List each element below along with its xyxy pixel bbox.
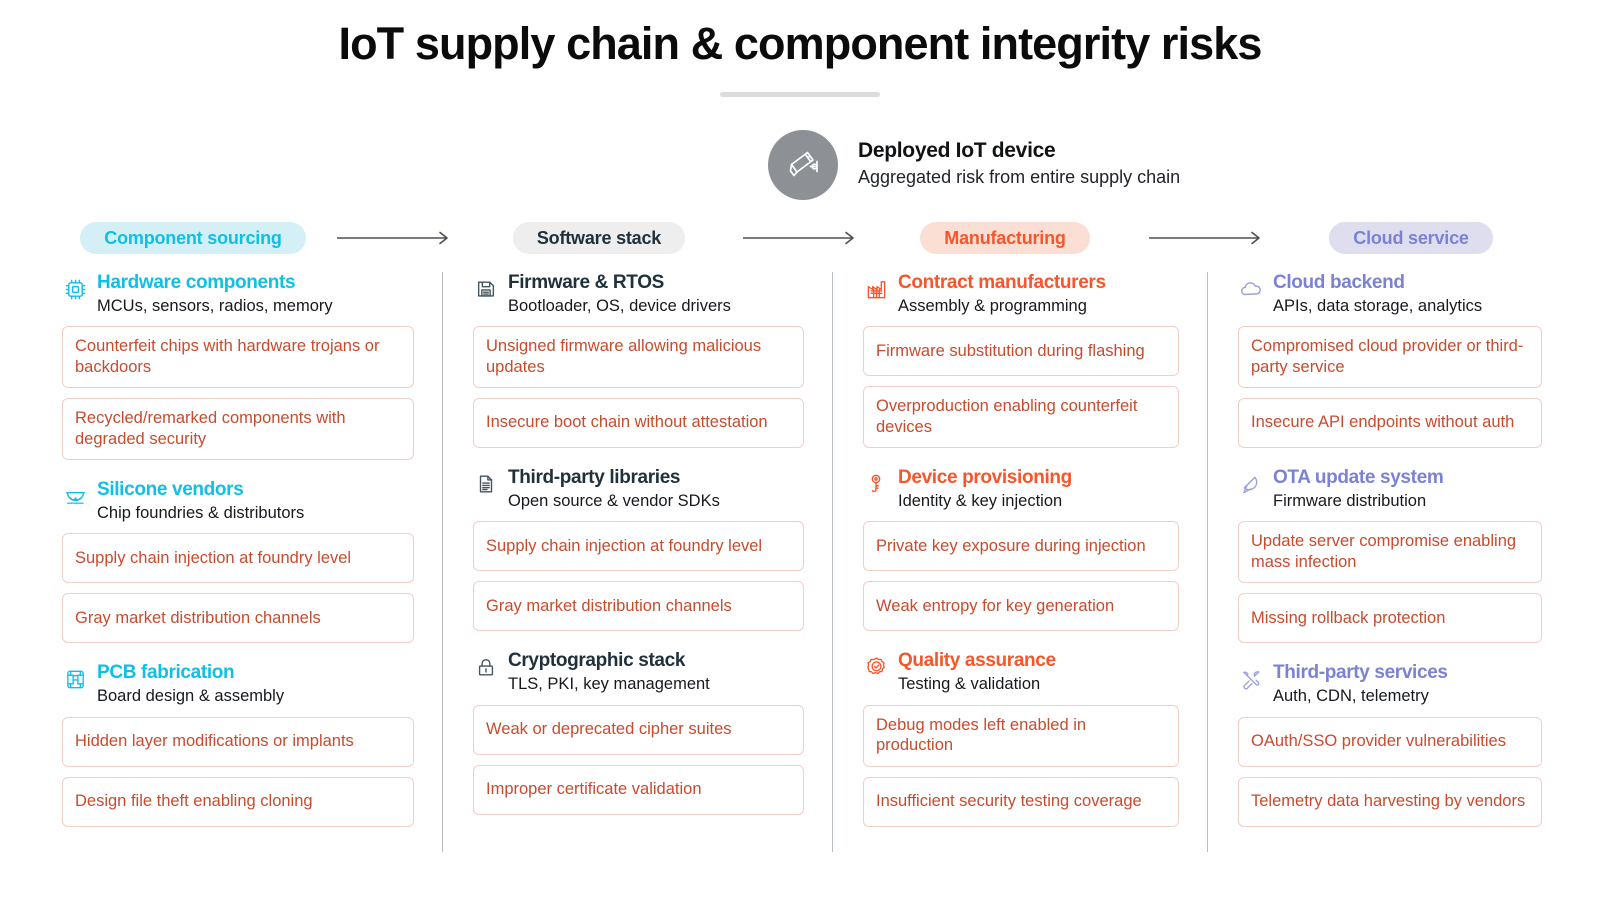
risk-text: Missing rollback protection [1251,608,1445,628]
group-device-provisioning: Device provisioning Identity & key injec… [863,467,1179,631]
group-quality-assurance: Quality assurance Testing & validation D… [863,650,1179,826]
risk-text: Gray market distribution channels [75,608,321,628]
risk-card: Recycled/remarked components with degrad… [62,398,414,460]
column-cloud-service: Cloud backend APIs, data storage, analyt… [1207,272,1542,852]
risk-card: Debug modes left enabled in production [863,705,1179,767]
group-header: Third-party libraries Open source & vend… [473,467,804,512]
group-header: Cryptographic stack TLS, PKI, key manage… [473,650,804,695]
stage-cell-1: Component sourcing [62,222,324,254]
group-pcb-fabrication: PCB fabrication Board design & assembly … [62,662,414,826]
group-header: Silicone vendors Chip foundries & distri… [62,479,414,524]
risk-card: Private key exposure during injection [863,521,1179,571]
stage-label: Software stack [537,228,661,249]
risk-text: Insufficient security testing coverage [876,791,1142,811]
risk-card: Update server compromise enabling mass i… [1238,521,1542,583]
risk-card: Weak or deprecated cipher suites [473,705,804,755]
group-firmware-rtos: Firmware & RTOS Bootloader, OS, device d… [473,272,804,448]
group-subtitle: TLS, PKI, key management [508,674,710,695]
satellite-dish-icon [1238,469,1264,499]
group-header: OTA update system Firmware distribution [1238,467,1542,512]
group-third-party-services: Third-party services Auth, CDN, telemetr… [1238,662,1542,826]
tools-icon [1238,664,1264,694]
risk-text: Private key exposure during injection [876,536,1146,556]
deployed-device-banner: Deployed IoT device Aggregated risk from… [768,130,1180,200]
risk-text: Gray market distribution channels [486,596,732,616]
risk-card: Insecure API endpoints without auth [1238,398,1542,448]
stage-flow: Component sourcing Software stack Manufa… [62,222,1542,254]
column-software-stack: Firmware & RTOS Bootloader, OS, device d… [442,272,832,852]
risk-text: Firmware substitution during flashing [876,341,1145,361]
group-title: Third-party services [1273,662,1448,684]
risk-card: Design file theft enabling cloning [62,777,414,827]
security-camera-icon [783,143,823,188]
risk-text: Supply chain injection at foundry level [75,548,351,568]
risk-text: Insecure boot chain without attestation [486,412,768,432]
device-icon-circle [768,130,838,200]
pcb-icon [62,664,88,694]
group-title: Third-party libraries [508,467,720,489]
risk-text: Compromised cloud provider or third-part… [1251,336,1529,377]
factory-icon [863,274,889,304]
group-subtitle: Testing & validation [898,674,1056,695]
group-title: Cryptographic stack [508,650,710,672]
risk-text: Overproduction enabling counterfeit devi… [876,396,1166,437]
group-title: Cloud backend [1273,272,1482,294]
risk-text: Update server compromise enabling mass i… [1251,531,1529,572]
stage-chip-software-stack[interactable]: Software stack [513,222,685,254]
risk-card: Missing rollback protection [1238,593,1542,643]
risk-columns: Hardware components MCUs, sensors, radio… [62,272,1542,852]
risk-text: Hidden layer modifications or implants [75,731,354,751]
risk-card: Improper certificate validation [473,765,804,815]
cloud-icon [1238,274,1264,304]
group-header: PCB fabrication Board design & assembly [62,662,414,707]
device-subtitle: Aggregated risk from entire supply chain [858,165,1180,189]
group-title: Firmware & RTOS [508,272,731,294]
stage-label: Manufacturing [944,228,1065,249]
risk-card: Gray market distribution channels [62,593,414,643]
stage-cell-2: Software stack [468,222,730,254]
risk-card: Firmware substitution during flashing [863,326,1179,376]
group-subtitle: Board design & assembly [97,686,284,707]
group-hardware-components: Hardware components MCUs, sensors, radio… [62,272,414,460]
title-divider [720,92,880,97]
risk-card: Supply chain injection at foundry level [62,533,414,583]
group-title: Hardware components [97,272,333,294]
risk-text: Debug modes left enabled in production [876,715,1166,756]
risk-card: Telemetry data harvesting by vendors [1238,777,1542,827]
column-manufacturing: Contract manufacturers Assembly & progra… [832,272,1207,852]
risk-card: Insufficient security testing coverage [863,777,1179,827]
group-header: Cloud backend APIs, data storage, analyt… [1238,272,1542,317]
stage-label: Component sourcing [104,228,281,249]
stage-arrow-2 [730,228,874,248]
lock-icon [473,652,499,682]
group-subtitle: Auth, CDN, telemetry [1273,686,1448,707]
risk-text: OAuth/SSO provider vulnerabilities [1251,731,1506,751]
group-subtitle: Identity & key injection [898,491,1072,512]
device-title: Deployed IoT device [858,138,1180,164]
key-icon [863,469,889,499]
group-header: Hardware components MCUs, sensors, radio… [62,272,414,317]
risk-card: Counterfeit chips with hardware trojans … [62,326,414,388]
group-title: Silicone vendors [97,479,304,501]
group-silicone-vendors: Silicone vendors Chip foundries & distri… [62,479,414,643]
group-subtitle: APIs, data storage, analytics [1273,296,1482,317]
group-contract-manufacturers: Contract manufacturers Assembly & progra… [863,272,1179,448]
stage-arrow-3 [1136,228,1280,248]
stage-chip-component-sourcing[interactable]: Component sourcing [80,222,305,254]
group-cryptographic-stack: Cryptographic stack TLS, PKI, key manage… [473,650,804,814]
group-title: Device provisioning [898,467,1072,489]
group-subtitle: Open source & vendor SDKs [508,491,720,512]
risk-card: Weak entropy for key generation [863,581,1179,631]
diagram-page: IoT supply chain & component integrity r… [0,0,1600,900]
group-title: OTA update system [1273,467,1443,489]
chip-icon [62,274,88,304]
stage-chip-cloud-service[interactable]: Cloud service [1329,222,1492,254]
group-subtitle: Firmware distribution [1273,491,1443,512]
storefront-icon [62,481,88,511]
risk-text: Weak or deprecated cipher suites [486,719,732,739]
group-header: Third-party services Auth, CDN, telemetr… [1238,662,1542,707]
risk-text: Improper certificate validation [486,779,702,799]
column-component-sourcing: Hardware components MCUs, sensors, radio… [62,272,442,852]
risk-text: Counterfeit chips with hardware trojans … [75,336,401,377]
stage-chip-manufacturing[interactable]: Manufacturing [920,222,1089,254]
risk-card: Hidden layer modifications or implants [62,717,414,767]
stage-label: Cloud service [1353,228,1468,249]
risk-card: Supply chain injection at foundry level [473,521,804,571]
risk-text: Insecure API endpoints without auth [1251,412,1514,432]
risk-text: Recycled/remarked components with degrad… [75,408,401,449]
risk-text: Supply chain injection at foundry level [486,536,762,556]
group-cloud-backend: Cloud backend APIs, data storage, analyt… [1238,272,1542,448]
stage-cell-4: Cloud service [1280,222,1542,254]
risk-text: Weak entropy for key generation [876,596,1114,616]
verified-badge-icon [863,652,889,682]
group-ota-update-system: OTA update system Firmware distribution … [1238,467,1542,643]
stage-arrow-1 [324,228,468,248]
group-header: Quality assurance Testing & validation [863,650,1179,695]
risk-text: Unsigned firmware allowing malicious upd… [486,336,791,377]
title-block: IoT supply chain & component integrity r… [0,0,1600,97]
group-title: Contract manufacturers [898,272,1106,294]
risk-text: Design file theft enabling cloning [75,791,313,811]
group-header: Firmware & RTOS Bootloader, OS, device d… [473,272,804,317]
group-title: PCB fabrication [97,662,284,684]
group-subtitle: Bootloader, OS, device drivers [508,296,731,317]
risk-text: Telemetry data harvesting by vendors [1251,791,1525,811]
page-title: IoT supply chain & component integrity r… [0,18,1600,70]
floppy-disk-icon [473,274,499,304]
risk-card: Gray market distribution channels [473,581,804,631]
risk-card: Unsigned firmware allowing malicious upd… [473,326,804,388]
group-title: Quality assurance [898,650,1056,672]
group-subtitle: MCUs, sensors, radios, memory [97,296,333,317]
risk-card: OAuth/SSO provider vulnerabilities [1238,717,1542,767]
risk-card: Insecure boot chain without attestation [473,398,804,448]
group-subtitle: Assembly & programming [898,296,1106,317]
stage-cell-3: Manufacturing [874,222,1136,254]
risk-card: Overproduction enabling counterfeit devi… [863,386,1179,448]
group-header: Contract manufacturers Assembly & progra… [863,272,1179,317]
document-icon [473,469,499,499]
group-header: Device provisioning Identity & key injec… [863,467,1179,512]
group-subtitle: Chip foundries & distributors [97,503,304,524]
risk-card: Compromised cloud provider or third-part… [1238,326,1542,388]
group-third-party-libraries: Third-party libraries Open source & vend… [473,467,804,631]
